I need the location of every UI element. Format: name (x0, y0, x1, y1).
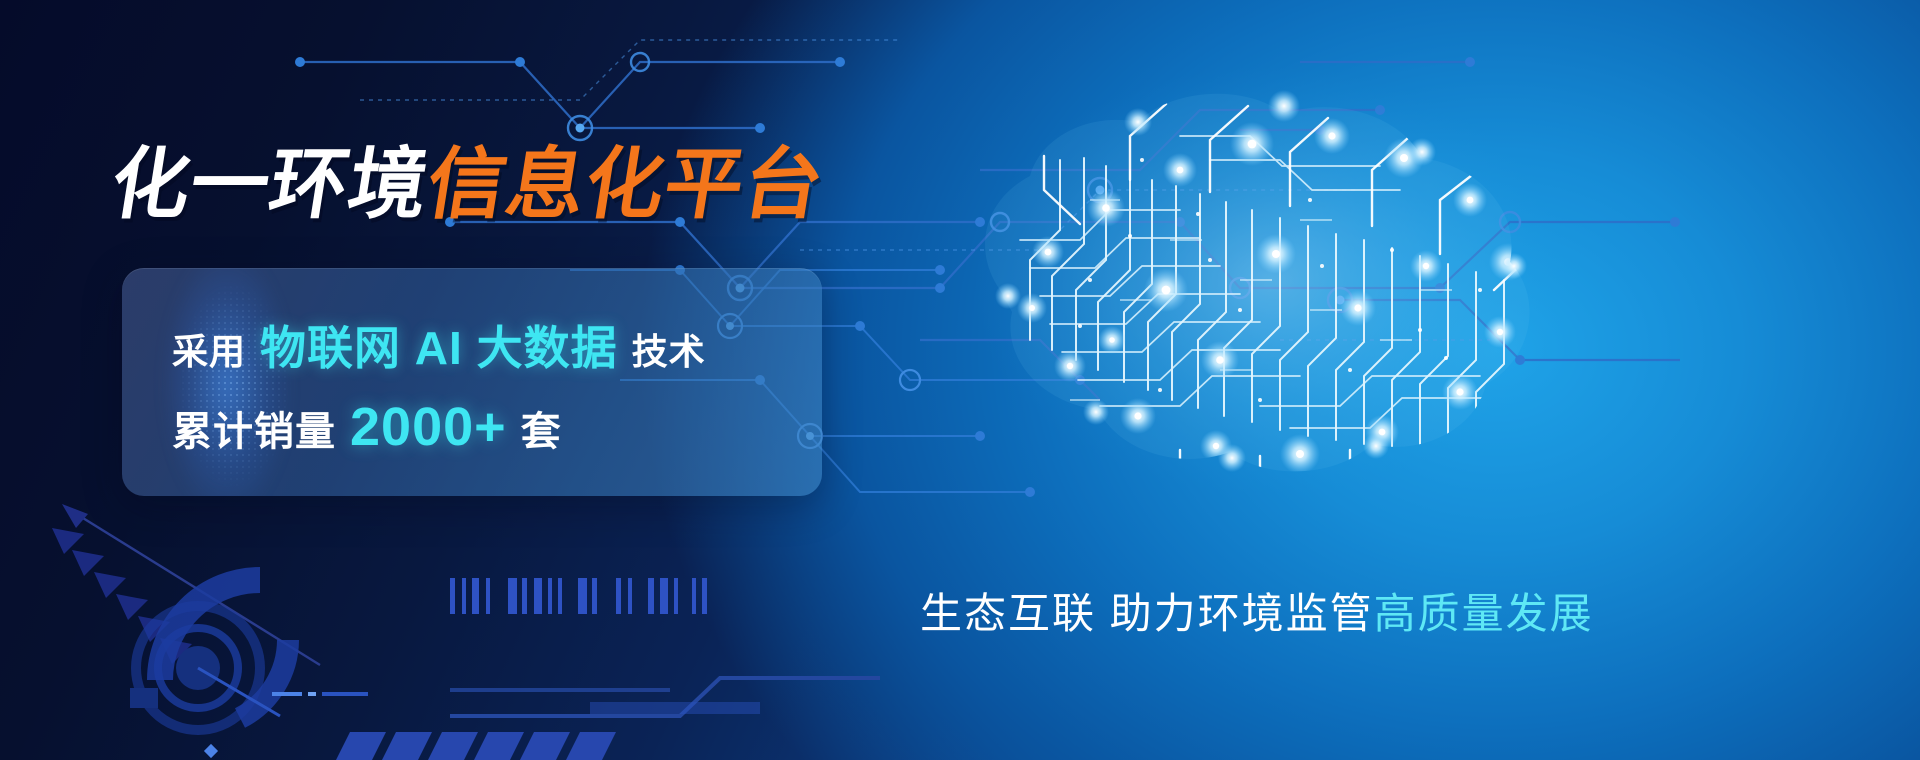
feature-line1-suffix: 技术 (632, 323, 706, 375)
feature-line2-prefix: 累计销量 (172, 399, 336, 457)
feature-line-technology: 采用 物联网 AI 大数据 技术 (172, 312, 706, 378)
banner-tagline: 生态互联 助力环境监管 高质量发展 (920, 580, 1594, 641)
feature-line2-suffix: 套 (521, 399, 562, 457)
radar-hud-dial (120, 520, 880, 760)
tagline-accent: 高质量发展 (1374, 580, 1594, 641)
card-glow-decoration (162, 268, 292, 496)
feature-card: 采用 物联网 AI 大数据 技术 累计销量 2000+ 套 (122, 268, 822, 496)
banner-title-accent: 信息化平台 (422, 146, 829, 224)
feature-line-sales: 累计销量 2000+ 套 (172, 396, 562, 458)
ai-circuit-brain (880, 40, 1580, 510)
feature-line2-highlight: 2000+ (350, 396, 507, 458)
promo-banner: 化一环境 信息化平台 采用 物联网 AI 大数据 技术 累计销量 2000+ 套… (0, 0, 1920, 760)
feature-line1-prefix: 采用 (172, 323, 246, 375)
banner-title-primary: 化一环境 (106, 146, 434, 224)
feature-line1-highlight: 物联网 AI 大数据 (260, 312, 618, 378)
banner-title: 化一环境 信息化平台 (112, 146, 823, 224)
tagline-primary: 生态互联 助力环境监管 (920, 580, 1374, 641)
card-dot-pattern (174, 278, 294, 493)
